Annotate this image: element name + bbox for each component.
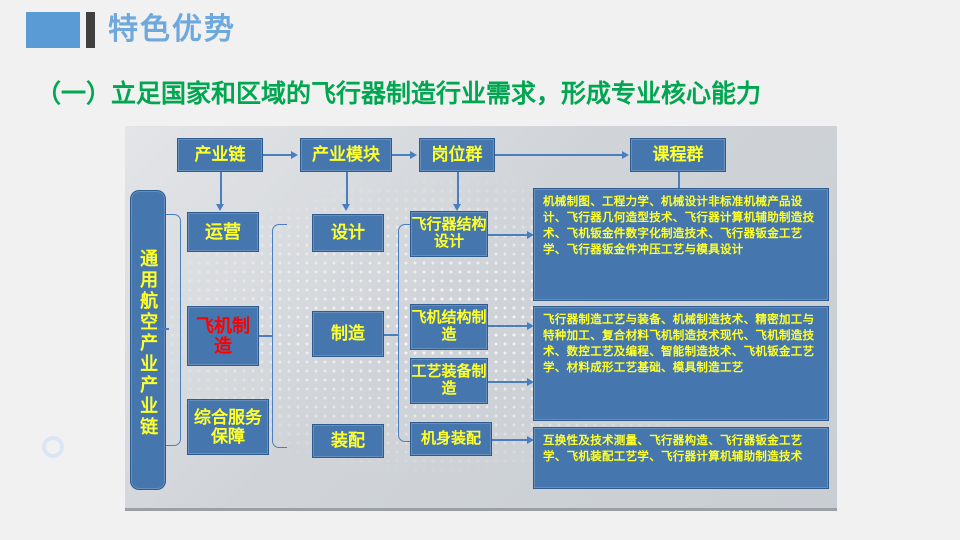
arrowhead-post-to-course	[622, 151, 629, 159]
diagram-node-industry-chain[interactable]: 产业链	[177, 138, 263, 172]
connector-manufacture-stub	[384, 334, 398, 336]
connector-module-to-post	[392, 154, 411, 156]
connector-spine-bracket-stub	[157, 328, 169, 330]
diagram-node-industry-module[interactable]: 产业模块	[300, 138, 392, 172]
arrowhead-chain-down	[216, 204, 224, 211]
page-title: 特色优势	[108, 9, 236, 51]
diagram-node-assembly[interactable]: 装配	[312, 424, 384, 458]
connector-manufacturing-stub	[259, 335, 272, 337]
connector-course-down	[678, 172, 680, 189]
header-accent-block	[26, 12, 80, 48]
diagram-node-operation[interactable]: 运营	[187, 212, 259, 252]
connector-post-to-course	[495, 154, 623, 156]
diagram-node-aircraft-manufacturing[interactable]: 飞机制造	[187, 306, 259, 366]
decorative-ring-icon	[42, 436, 64, 458]
arrowhead-module-to-post	[410, 151, 417, 159]
diagram-course-group-design[interactable]: 机械制图、工程力学、机械设计非标准机械产品设计、飞行器几何造型技术、飞行器计算机…	[533, 188, 829, 301]
connector-chain-down	[220, 172, 222, 205]
connector-post2-to-course2	[488, 325, 528, 327]
connector-post3-to-course2	[488, 381, 528, 383]
arrowhead-post-down	[453, 204, 461, 211]
diagram-node-aircraft-structure-manufacture[interactable]: 飞机结构制造	[410, 304, 488, 350]
section-subtitle: （一）立足国家和区域的飞行器制造行业需求，形成专业核心能力	[36, 74, 761, 110]
arrowhead-module-down	[342, 204, 350, 211]
diagram-course-group-assembly[interactable]: 互换性及技术测量、飞行器构造、飞行器钣金工艺学、飞机装配工艺学、飞行器计算机辅助…	[533, 427, 829, 489]
diagram-node-fuselage-assembly[interactable]: 机身装配	[410, 422, 492, 456]
diagram-node-general-aviation-chain[interactable]: 通用航空产业产业链	[130, 190, 166, 490]
header-divider-bar	[86, 12, 95, 48]
capability-flow-diagram: 产业链 产业模块 岗位群 课程群 通用航空产业产业链 运营 飞机制造 综合服务保…	[125, 126, 837, 511]
diagram-node-comprehensive-service[interactable]: 综合服务保障	[187, 399, 269, 455]
arrowhead-chain-to-module	[291, 151, 298, 159]
connector-chain-to-module	[263, 154, 292, 156]
connector-post4-to-course3	[492, 439, 528, 441]
diagram-node-manufacture[interactable]: 制造	[312, 311, 384, 357]
diagram-node-design[interactable]: 设计	[312, 214, 384, 252]
connector-post1-to-course1	[488, 234, 528, 236]
connector-post-down	[457, 172, 459, 205]
diagram-node-aircraft-structure-design[interactable]: 飞行器结构设计	[410, 211, 488, 257]
bracket-spine-to-modules	[166, 214, 181, 446]
diagram-node-post-group[interactable]: 岗位群	[419, 138, 495, 172]
bracket-modules-to-stages	[272, 224, 287, 448]
diagram-node-process-equipment-manufacture[interactable]: 工艺装备制造	[410, 358, 488, 404]
slide-header: 特色优势	[0, 0, 960, 62]
diagram-node-course-group[interactable]: 课程群	[630, 138, 726, 172]
connector-module-down	[346, 172, 348, 205]
diagram-course-group-manufacture[interactable]: 飞行器制造工艺与装备、机械制造技术、精密加工与特种加工、复合材料飞机制造技术现代…	[533, 306, 829, 421]
